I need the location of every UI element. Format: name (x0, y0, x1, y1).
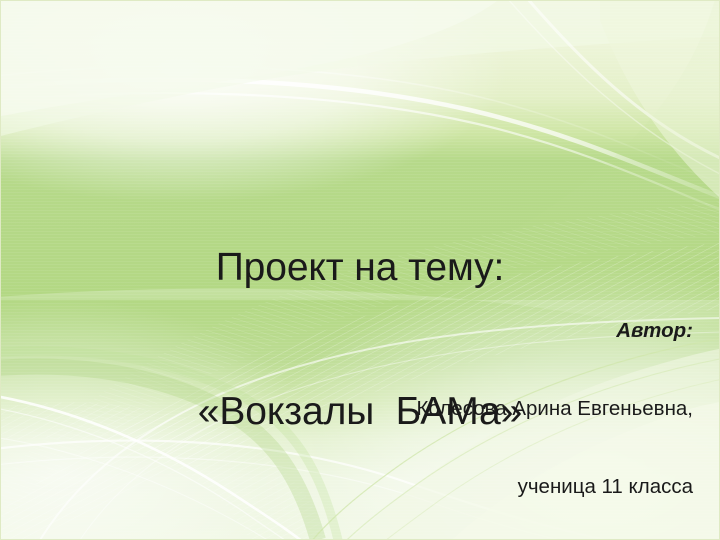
presentation-slide: Проект на тему: «Вокзалы БАМа» Автор: Ко… (0, 0, 720, 540)
author-label: Автор: (153, 318, 693, 344)
author-grade: ученица 11 класса (153, 474, 693, 500)
author-credits-block: Автор: Колесова Арина Евгеньевна, учениц… (153, 266, 693, 540)
author-name: Колесова Арина Евгеньевна, (153, 396, 693, 422)
